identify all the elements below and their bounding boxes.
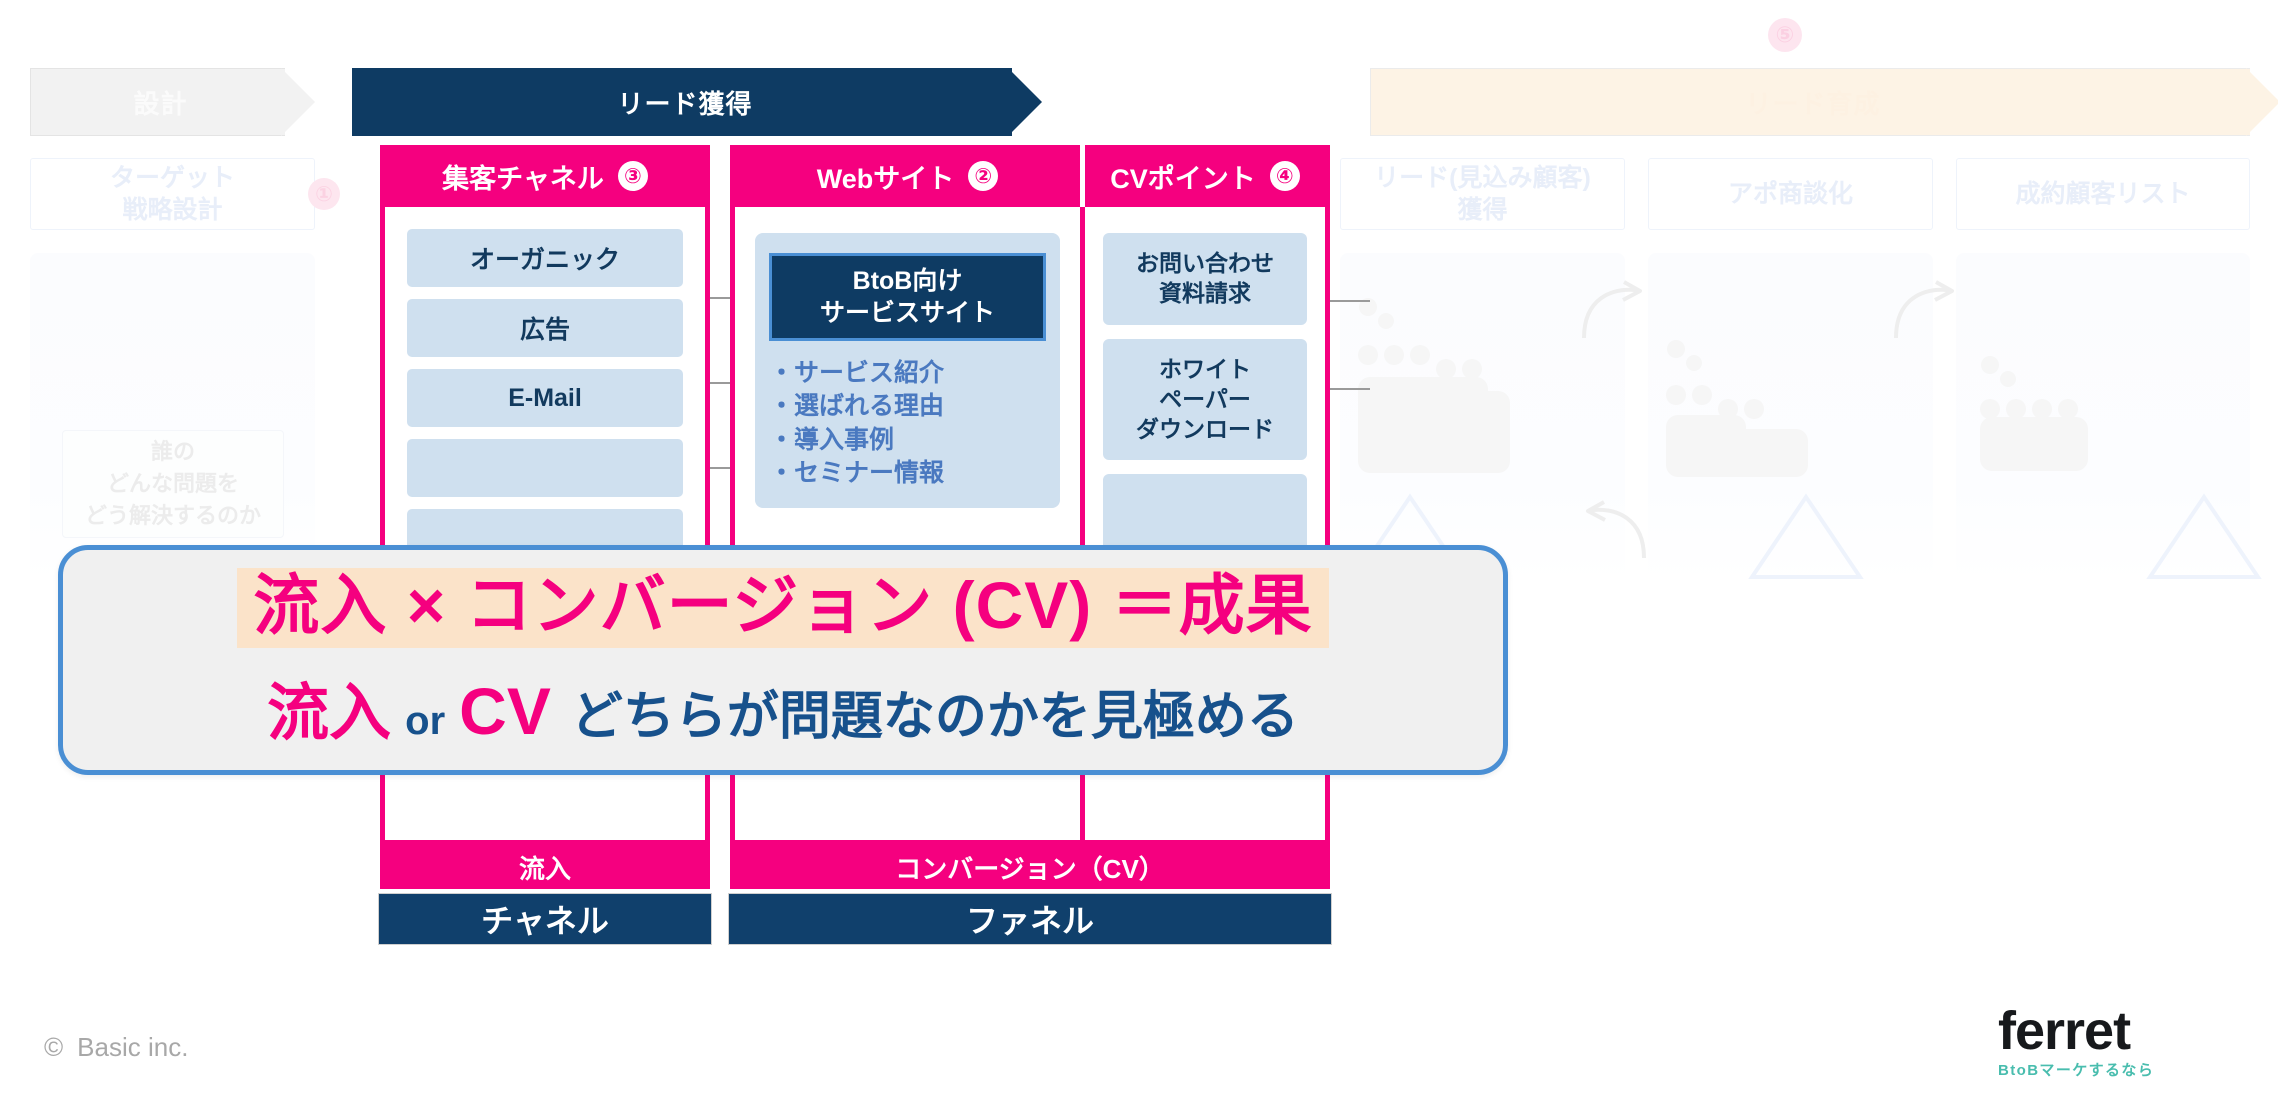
ghost-card-appointment-label: アポ商談化 <box>1728 178 1853 211</box>
phase-arrow-row: 設計 リード獲得 リード育成 <box>30 68 2250 136</box>
ghost-card-target-strategy-label: ターゲット 戦略設計 <box>110 162 235 227</box>
column-channel-title: 集客チャネル <box>442 157 604 196</box>
slide-canvas: 設計 リード獲得 リード育成 ⑤ ターゲット 戦略設計 ① リード(見込み顧客)… <box>0 0 2278 1094</box>
bar-inflow: 流入 <box>380 845 710 889</box>
footer-copyright: © Basic inc. <box>44 1032 188 1063</box>
step-badge-1: ① <box>308 178 340 210</box>
bar-inflow-label: 流入 <box>519 849 571 886</box>
website-card-title: BtoB向け サービスサイト <box>769 253 1046 341</box>
list-item[interactable]: お問い合わせ 資料請求 <box>1103 233 1307 325</box>
column-website-header: Webサイト ② <box>735 145 1080 207</box>
bar-conversion: コンバージョン（CV） <box>730 845 1330 889</box>
channel-list: オーガニック 広告 E-Mail <box>385 207 705 567</box>
phase-lead-acquisition: リード獲得 <box>352 68 1042 136</box>
ghost-card-contract-list-label: 成約顧客リスト <box>2015 178 2190 211</box>
phase-design-label: 設計 <box>30 84 315 121</box>
triangle-icon-3 <box>2144 491 2264 583</box>
bar-channel: チャネル <box>378 893 712 945</box>
callout-or-text: or <box>405 699 445 744</box>
bar-funnel-label: ファネル <box>966 896 1094 942</box>
ghost-card-target-strategy: ターゲット 戦略設計 <box>30 158 315 230</box>
curved-arrow-icon-left <box>1580 500 1650 566</box>
curved-arrow-icon-right-2 <box>1890 280 1960 346</box>
column-website-title: Webサイト <box>817 157 955 196</box>
column-channel-header: 集客チャネル ③ <box>385 145 705 207</box>
list-item: ・セミナー情報 <box>769 457 1046 490</box>
step-badge-3: ③ <box>618 161 648 191</box>
connector-cv-out-2 <box>1330 388 1370 390</box>
column-cv-point-header: CVポイント ④ <box>1085 145 1325 207</box>
ghost-card-lead-acquire-label: リード(見込み顧客) 獲得 <box>1374 162 1591 227</box>
callout-tail-text: どちらが問題なのかを見極める <box>571 674 1299 749</box>
list-item: ・導入事例 <box>769 424 1046 457</box>
website-card: BtoB向け サービスサイト ・サービス紹介 ・選ばれる理由 ・導入事例 ・セミ… <box>755 233 1060 508</box>
column-cv-point-title: CVポイント <box>1110 157 1256 196</box>
curved-arrow-icon-right-1 <box>1578 280 1648 346</box>
website-bullet-list: ・サービス紹介 ・選ばれる理由 ・導入事例 ・セミナー情報 <box>769 357 1046 490</box>
phase-lead-nurturing: リード育成 <box>1370 68 2278 136</box>
list-item[interactable]: オーガニック <box>407 229 683 287</box>
step-badge-2: ② <box>968 161 998 191</box>
ferret-logo: ferret BtoBマーケするなら <box>1998 1006 2228 1080</box>
column-divider <box>1080 145 1085 207</box>
triangle-icon-2 <box>1746 491 1866 583</box>
callout-box: 流入 × コンバージョン (CV) ＝成果 流入 or CV どちらが問題なのか… <box>58 545 1508 775</box>
ghost-subcard-questions-label: 誰の どんな問題を どう解決するのか <box>85 436 261 532</box>
ghost-subcard-questions: 誰の どんな問題を どう解決するのか <box>62 430 284 538</box>
bar-conversion-label: コンバージョン（CV） <box>895 849 1165 886</box>
ferret-logo-wordmark: ferret <box>1998 1006 2228 1057</box>
list-item[interactable]: E-Mail <box>407 369 683 427</box>
people-group-icon-3 <box>1976 353 2146 493</box>
step-badge-5: ⑤ <box>1768 18 1802 52</box>
phase-lead-acquisition-label: リード獲得 <box>352 84 1042 121</box>
phase-design: 設計 <box>30 68 315 136</box>
ghost-card-appointment: アポ商談化 <box>1648 158 1933 230</box>
list-item[interactable]: ホワイト ペーパー ダウンロード <box>1103 339 1307 461</box>
ghost-card-contract-list: 成約顧客リスト <box>1956 158 2250 230</box>
list-item[interactable]: 広告 <box>407 299 683 357</box>
website-body: BtoB向け サービスサイト ・サービス紹介 ・選ばれる理由 ・導入事例 ・セミ… <box>735 207 1080 508</box>
list-item[interactable] <box>407 439 683 497</box>
step-badge-4: ④ <box>1270 161 1300 191</box>
people-group-icon-2 <box>1662 337 1892 507</box>
bar-funnel: ファネル <box>728 893 1332 945</box>
connector-cv-out-1 <box>1330 300 1370 302</box>
people-group-icon-1 <box>1354 293 1604 503</box>
callout-cv-text: CV <box>459 673 551 749</box>
list-item: ・選ばれる理由 <box>769 390 1046 423</box>
callout-inflow-text: 流入 <box>267 662 391 752</box>
list-item: ・サービス紹介 <box>769 357 1046 390</box>
phase-lead-nurturing-label: リード育成 <box>1370 84 2278 121</box>
ferret-logo-tagline: BtoBマーケするなら <box>1998 1059 2228 1080</box>
ghost-panel-contract <box>1956 253 2250 583</box>
copyright-icon: © <box>44 1032 63 1063</box>
callout-line-1: 流入 × コンバージョン (CV) ＝成果 <box>237 568 1328 647</box>
footer-copyright-text: Basic inc. <box>77 1032 188 1063</box>
callout-line-2: 流入 or CV どちらが問題なのかを見極める <box>267 662 1299 752</box>
bar-channel-label: チャネル <box>481 896 609 942</box>
ghost-card-lead-acquire: リード(見込み顧客) 獲得 <box>1340 158 1625 230</box>
